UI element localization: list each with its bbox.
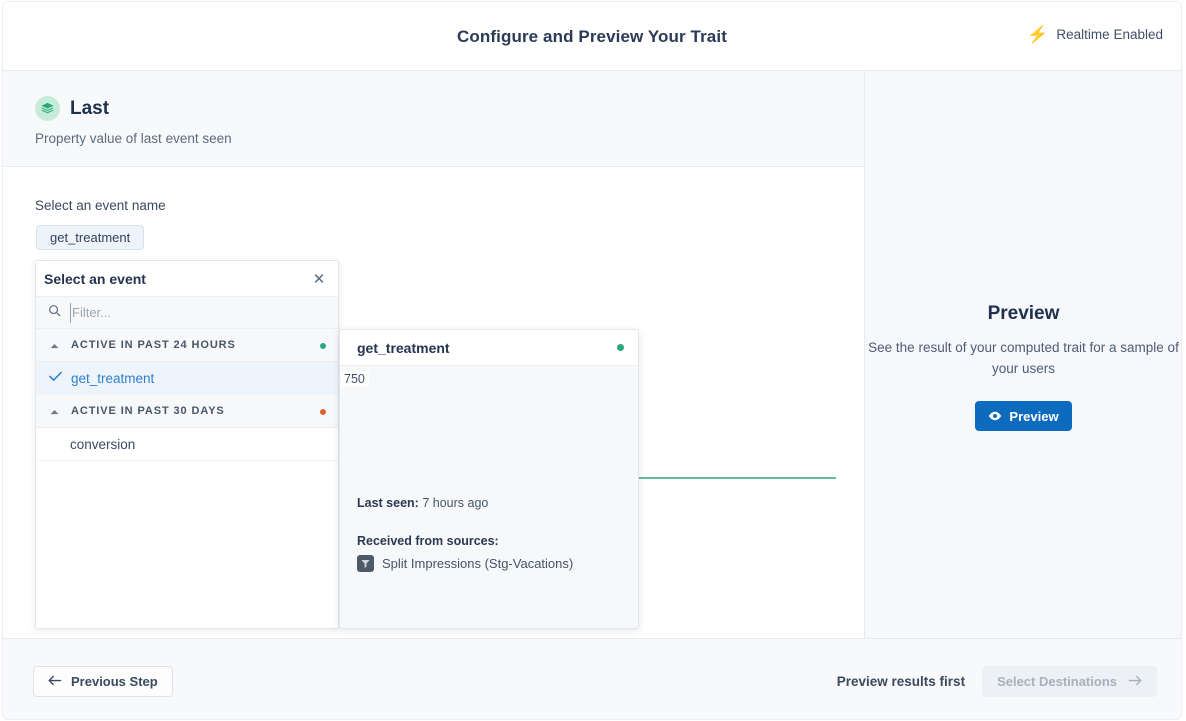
preview-button[interactable]: Preview <box>975 401 1072 431</box>
dropdown-title: Select an event <box>44 271 146 287</box>
search-input[interactable] <box>70 303 338 323</box>
sources-label: Received from sources: <box>357 534 573 548</box>
app-window: Configure and Preview Your Trait ⚡ Realt… <box>0 0 1186 721</box>
event-status-dot <box>617 344 624 351</box>
dropdown-item-conversion[interactable]: conversion <box>36 428 338 461</box>
dropdown-group-header-30d[interactable]: ACTIVE IN PAST 30 DAYS <box>36 395 338 428</box>
page-header: Configure and Preview Your Trait ⚡ Realt… <box>2 1 1182 71</box>
trait-header-band: Last Property value of last event seen <box>3 71 865 167</box>
event-dropdown-panel: Select an event ✕ <box>35 260 339 629</box>
close-icon[interactable]: ✕ <box>310 270 328 288</box>
group-label: ACTIVE IN PAST 30 DAYS <box>71 405 225 417</box>
layers-icon <box>35 96 60 121</box>
footer-actions: Preview results first Select Destination… <box>837 666 1157 697</box>
check-icon <box>49 369 62 387</box>
trait-title-row: Last <box>35 96 109 121</box>
preview-first-hint: Preview results first <box>837 674 965 689</box>
group-status-dot <box>320 343 326 349</box>
event-detail-meta: Last seen: 7 hours ago Received from sou… <box>357 496 573 572</box>
trait-description: Property value of last event seen <box>35 131 232 146</box>
last-seen-value: 7 hours ago <box>422 496 488 510</box>
configuration-pane: Last Property value of last event seen S… <box>2 71 864 638</box>
page-footer: Previous Step Preview results first Sele… <box>2 638 1182 720</box>
chevron-up-icon <box>50 336 59 354</box>
source-row: Split Impressions (Stg-Vacations) <box>357 555 573 572</box>
selected-event-chip[interactable]: get_treatment <box>36 225 144 250</box>
select-event-name-label: Select an event name <box>35 198 166 213</box>
main-content: Last Property value of last event seen S… <box>2 71 1182 638</box>
last-seen-line: Last seen: 7 hours ago <box>357 496 573 510</box>
preview-subtitle: See the result of your computed trait fo… <box>865 337 1182 379</box>
dropdown-group-header-24h[interactable]: ACTIVE IN PAST 24 HOURS <box>36 329 338 362</box>
preview-block: Preview See the result of your computed … <box>865 303 1182 431</box>
event-detail-card: get_treatment Last seen: 7 hours ago Rec… <box>339 329 639 629</box>
select-destinations-label: Select Destinations <box>997 674 1117 689</box>
preview-button-label: Preview <box>1009 409 1058 424</box>
arrow-left-icon <box>48 674 62 689</box>
source-name: Split Impressions (Stg-Vacations) <box>382 556 573 571</box>
group-status-dot <box>320 409 326 415</box>
search-icon <box>48 304 61 322</box>
previous-step-button[interactable]: Previous Step <box>33 666 173 697</box>
chevron-up-icon <box>50 402 59 420</box>
group-label: ACTIVE IN PAST 24 HOURS <box>71 339 236 351</box>
select-destinations-button[interactable]: Select Destinations <box>982 666 1157 697</box>
source-funnel-icon <box>357 555 374 572</box>
event-detail-header: get_treatment <box>340 330 638 366</box>
trait-name: Last <box>70 98 109 120</box>
dropdown-item-get-treatment[interactable]: get_treatment <box>36 362 338 395</box>
preview-heading: Preview <box>865 303 1182 325</box>
arrow-right-icon <box>1128 674 1142 689</box>
eye-icon <box>988 409 1002 424</box>
lightning-bolt-icon: ⚡ <box>1027 26 1048 43</box>
realtime-status: ⚡ Realtime Enabled <box>1027 26 1163 43</box>
event-detail-title: get_treatment <box>357 340 450 356</box>
last-seen-label: Last seen: <box>357 496 419 510</box>
dropdown-item-label: conversion <box>70 437 135 452</box>
dropdown-header: Select an event ✕ <box>36 261 338 297</box>
preview-pane: Preview See the result of your computed … <box>865 71 1182 638</box>
realtime-label: Realtime Enabled <box>1056 27 1163 42</box>
page-title: Configure and Preview Your Trait <box>3 2 1181 72</box>
dropdown-filter-row <box>36 297 338 329</box>
previous-step-label: Previous Step <box>71 674 158 689</box>
dropdown-item-label: get_treatment <box>71 371 154 386</box>
